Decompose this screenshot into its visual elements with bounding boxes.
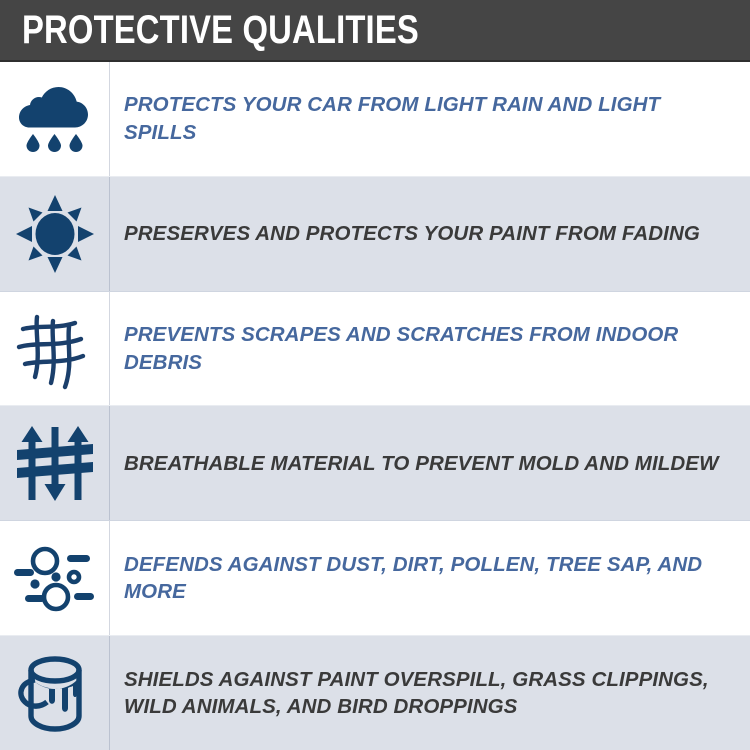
- list-item: Defends against dust, dirt, pollen, tree…: [0, 520, 750, 635]
- header-bar: PROTECTIVE QUALITIES: [0, 0, 750, 62]
- scratches-mesh-icon: [13, 307, 97, 391]
- icon-cell: [0, 406, 110, 520]
- text-cell: Protects your car from light rain and li…: [110, 62, 750, 176]
- dust-particles-icon: [12, 539, 98, 617]
- icon-cell: [0, 62, 110, 176]
- text-cell: Prevents scrapes and scratches from indo…: [110, 292, 750, 406]
- quality-label: Shields against paint overspill, grass c…: [124, 666, 736, 721]
- sun-icon: [15, 194, 95, 274]
- list-item: Shields against paint overspill, grass c…: [0, 635, 750, 750]
- icon-cell: [0, 636, 110, 750]
- quality-label: Breathable material to prevent mold and …: [124, 450, 719, 477]
- quality-label: Protects your car from light rain and li…: [124, 91, 736, 146]
- list-item: Preserves and protects your paint from f…: [0, 176, 750, 291]
- paint-can-icon: [13, 650, 97, 736]
- breathable-airflow-icon: [15, 422, 95, 504]
- icon-cell: [0, 177, 110, 291]
- quality-label: Prevents scrapes and scratches from indo…: [124, 321, 736, 376]
- text-cell: Preserves and protects your paint from f…: [110, 177, 750, 291]
- rain-cloud-icon: [16, 79, 94, 159]
- icon-cell: [0, 521, 110, 635]
- list-item: Protects your car from light rain and li…: [0, 62, 750, 176]
- list-item: Breathable material to prevent mold and …: [0, 405, 750, 520]
- page-title: PROTECTIVE QUALITIES: [22, 10, 419, 50]
- quality-label: Defends against dust, dirt, pollen, tree…: [124, 551, 736, 606]
- list-item: Prevents scrapes and scratches from indo…: [0, 291, 750, 406]
- icon-cell: [0, 292, 110, 406]
- text-cell: Breathable material to prevent mold and …: [110, 406, 750, 520]
- quality-label: Preserves and protects your paint from f…: [124, 220, 700, 247]
- text-cell: Shields against paint overspill, grass c…: [110, 636, 750, 750]
- protective-qualities-infographic: PROTECTIVE QUALITIES Protects your car f…: [0, 0, 750, 750]
- qualities-list: Protects your car from light rain and li…: [0, 62, 750, 750]
- text-cell: Defends against dust, dirt, pollen, tree…: [110, 521, 750, 635]
